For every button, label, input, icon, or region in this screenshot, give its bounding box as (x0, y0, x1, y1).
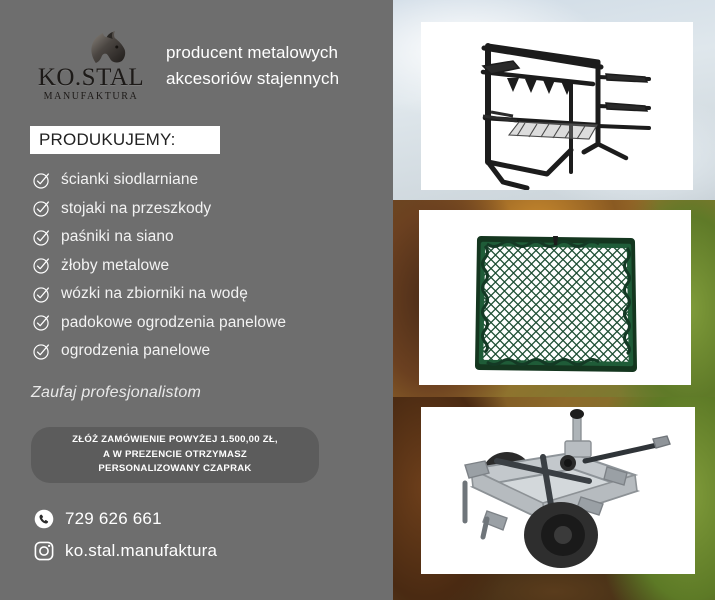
phone-number: 729 626 661 (65, 509, 162, 529)
product-card (419, 210, 691, 385)
list-item: ścianki siodlarniane (32, 166, 382, 195)
promo-banner: ZŁÓŻ ZAMÓWIENIE POWYŻEJ 1.500,00 ZŁ, A W… (31, 427, 319, 483)
water-cart-illustration (421, 407, 695, 574)
water-tank-cart-photo (393, 397, 715, 600)
brand-subtitle: MANUFAKTURA (44, 92, 139, 102)
instagram-handle: ko.stal.manufaktura (65, 541, 217, 561)
check-circle-icon (32, 171, 51, 190)
feature-list: ścianki siodlarniane stojaki na przeszko… (32, 166, 382, 366)
saddle-rack-photo (393, 0, 715, 200)
list-item: padokowe ogrodzenia panelowe (32, 309, 382, 338)
contact-instagram-row[interactable]: ko.stal.manufaktura (33, 535, 363, 567)
section-heading-box: PRODUKUJEMY: (30, 126, 220, 154)
feature-label: paśniki na siano (61, 228, 174, 246)
phone-icon (33, 508, 55, 530)
info-panel: KO.STAL MANUFAKTURA producent metalowych… (0, 0, 393, 600)
check-circle-icon (32, 313, 51, 332)
brand-logo: KO.STAL MANUFAKTURA (30, 30, 152, 102)
check-circle-icon (32, 256, 51, 275)
headline-line-1: producent metalowych (166, 40, 339, 66)
feature-label: żłoby metalowe (61, 257, 169, 275)
section-heading-label: PRODUKUJEMY: (39, 130, 176, 150)
list-item: stojaki na przeszkody (32, 195, 382, 224)
list-item: ogrodzenia panelowe (32, 337, 382, 366)
product-card (421, 407, 695, 574)
feature-label: stojaki na przeszkody (61, 200, 211, 218)
feature-label: ścianki siodlarniane (61, 171, 198, 189)
hay-net-illustration (419, 210, 691, 385)
check-circle-icon (32, 342, 51, 361)
check-circle-icon (32, 199, 51, 218)
headline-line-2: akcesoriów stajennych (166, 66, 339, 92)
check-circle-icon (32, 228, 51, 247)
promo-line-2: A W PREZENCIE OTRZYMASZ (103, 448, 247, 463)
photo-column (393, 0, 715, 600)
poster: KO.STAL MANUFAKTURA producent metalowych… (0, 0, 715, 600)
feature-label: wózki na zbiorniki na wodę (61, 285, 248, 303)
list-item: paśniki na siano (32, 223, 382, 252)
contact-phone-row[interactable]: 729 626 661 (33, 503, 363, 535)
headline: producent metalowych akcesoriów stajenny… (166, 40, 339, 93)
list-item: wózki na zbiorniki na wodę (32, 280, 382, 309)
list-item: żłoby metalowe (32, 252, 382, 281)
front-wheel (524, 502, 598, 568)
product-card (421, 22, 693, 190)
brand-name: KO.STAL (38, 65, 144, 90)
horse-head-icon (82, 30, 128, 64)
promo-line-1: ZŁÓŻ ZAMÓWIENIE POWYŻEJ 1.500,00 ZŁ, (72, 433, 278, 448)
hay-net-photo (393, 200, 715, 397)
tagline: Zaufaj profesjonalistom (31, 384, 201, 402)
feature-label: ogrodzenia panelowe (61, 342, 210, 360)
feature-label: padokowe ogrodzenia panelowe (61, 314, 286, 332)
saddle-rack-illustration (421, 22, 693, 190)
brand-header: KO.STAL MANUFAKTURA producent metalowych… (30, 30, 375, 102)
instagram-icon (33, 540, 55, 562)
check-circle-icon (32, 285, 51, 304)
promo-line-3: PERSONALIZOWANY CZAPRAK (98, 462, 251, 477)
contact-block: 729 626 661 ko.stal.manufaktura (33, 503, 363, 567)
